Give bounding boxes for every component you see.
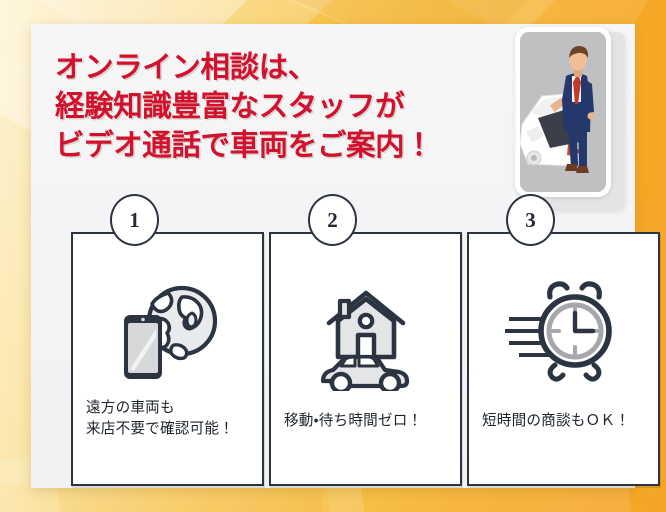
card-number-badge-2: 2 [308, 194, 357, 246]
alarm-clock-speed-icon [469, 256, 658, 406]
house-car-icon [271, 256, 460, 406]
feature-card-1-text: 遠方の車両も 来店不要で確認可能！ [86, 397, 254, 440]
card-number-badge-3: 3 [506, 194, 555, 246]
phone-volume-up-button [513, 91, 516, 117]
feature-card-3[interactable]: 短時間の商談もＯＫ！ [467, 232, 660, 486]
phone-volume-down-button [513, 123, 516, 149]
promo-banner: オンライン相談は、 経験知識豊富なスタッフが ビデオ通話で車両をご案内！ [0, 0, 666, 512]
headline-line-2: 経験知識豊富なスタッフが [55, 88, 525, 127]
feature-card-2[interactable]: 移動・待ち時間ゼロ！ [269, 232, 462, 486]
smartphone-globe-icon [73, 256, 262, 406]
phone-mute-button [513, 69, 516, 85]
phone-illustration [509, 24, 635, 214]
headline-line-1: オンライン相談は、 [55, 49, 525, 88]
feature-card-1[interactable]: 遠方の車両も 来店不要で確認可能！ [71, 232, 264, 486]
page-title: オンライン相談は、 経験知識豊富なスタッフが ビデオ通話で車両をご案内！ [55, 49, 525, 166]
headline-line-3: ビデオ通話で車両をご案内！ [55, 127, 525, 166]
salesman-with-car-illustration [520, 32, 606, 192]
feature-card-2-text: 移動・待ち時間ゼロ！ [284, 410, 452, 432]
card-number-badge-1: 1 [110, 194, 159, 246]
feature-card-2-line-1: 移動・待ち時間ゼロ！ [284, 412, 422, 429]
feature-card-1-line-2: 来店不要で確認可能！ [86, 420, 234, 437]
phone-screen [520, 32, 606, 192]
feature-card-3-line-1: 短時間の商談もＯＫ！ [482, 412, 630, 429]
content-panel: オンライン相談は、 経験知識豊富なスタッフが ビデオ通話で車両をご案内！ [31, 24, 635, 488]
feature-card-1-line-1: 遠方の車両も [86, 399, 175, 416]
phone-body [515, 27, 611, 197]
feature-card-3-text: 短時間の商談もＯＫ！ [482, 410, 650, 432]
